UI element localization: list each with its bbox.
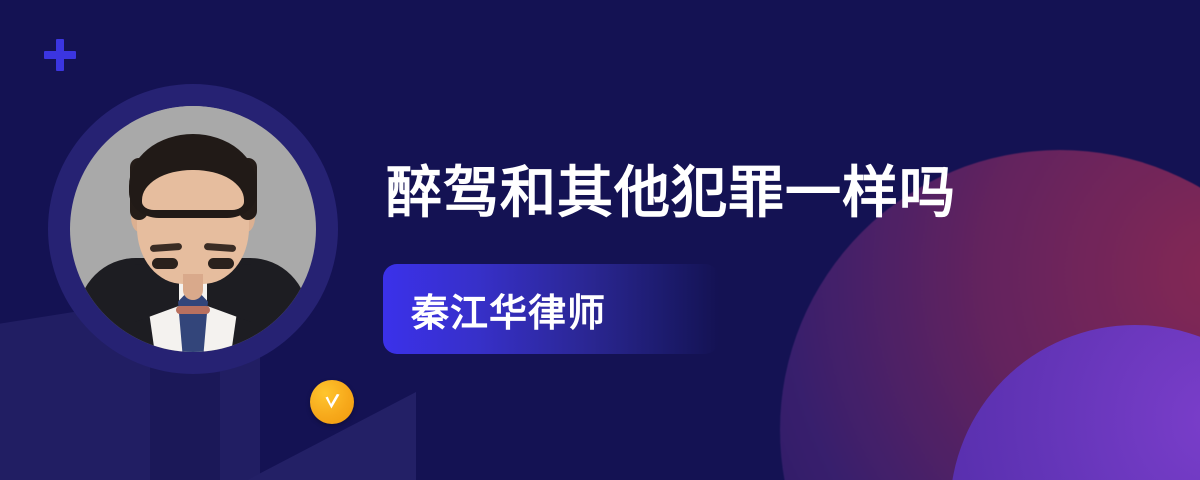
author-name-label: 秦江华律师: [383, 282, 606, 337]
plus-icon: [42, 37, 78, 73]
portrait-nose: [183, 274, 203, 300]
portrait-eye-left: [152, 258, 178, 269]
author-name-badge[interactable]: 秦江华律师: [383, 264, 719, 354]
verified-check-icon: [310, 380, 354, 424]
decor-gradient-blob-inner: [950, 325, 1200, 480]
plus-icon-bar-vertical: [56, 39, 64, 71]
portrait-eye-right: [208, 258, 234, 269]
portrait-mouth: [176, 306, 210, 314]
avatar-photo-backdrop: [70, 106, 316, 124]
portrait-eyebrow-left: [150, 243, 182, 252]
portrait-hair: [129, 134, 257, 218]
portrait-eyebrow-right: [204, 243, 236, 252]
avatar[interactable]: [48, 84, 338, 374]
page-title: 醉驾和其他犯罪一样吗: [386, 158, 956, 228]
avatar-photo: [70, 106, 316, 352]
decor-diagonal-wedge: [186, 392, 416, 480]
video-cover-card: 醉驾和其他犯罪一样吗 秦江华律师: [0, 0, 1200, 480]
